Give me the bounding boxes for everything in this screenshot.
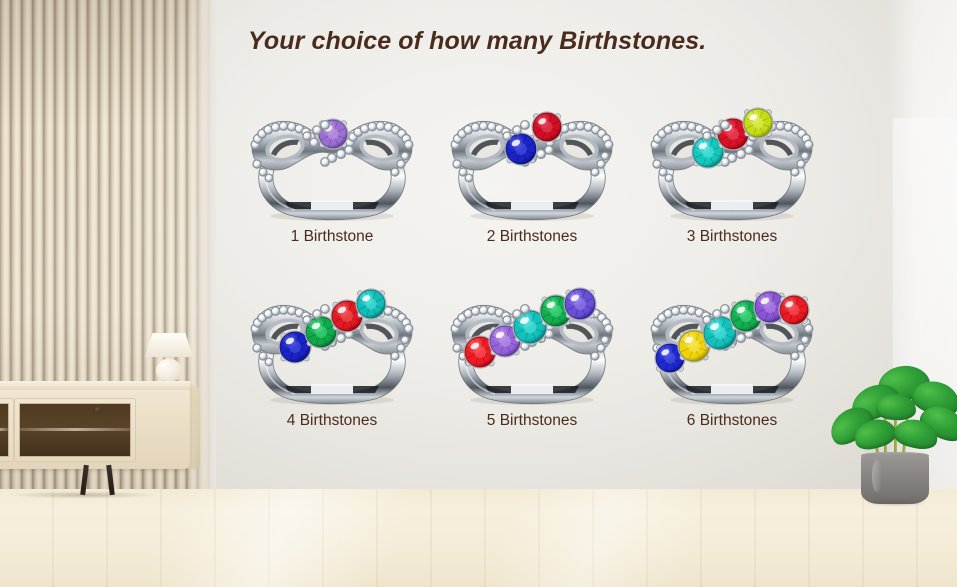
sideboard-door-right xyxy=(14,398,136,462)
ring-option-2[interactable]: 2 Birthstones xyxy=(432,92,632,246)
ring-image-3[interactable] xyxy=(637,92,827,224)
potted-plant xyxy=(820,358,957,508)
ring-options-row-bottom: 4 Birthstones 5 Birthstones 6 Birthstone… xyxy=(232,276,832,430)
ring-option-5[interactable]: 5 Birthstones xyxy=(432,276,632,430)
floor-light-reflection xyxy=(0,489,957,587)
ring-image-1[interactable] xyxy=(237,92,427,224)
ring-caption-1: 1 Birthstone xyxy=(291,228,374,246)
sideboard-shelf-line-right xyxy=(20,428,130,431)
ring-option-6[interactable]: 6 Birthstones xyxy=(632,276,832,430)
sideboard-shelf-line-left xyxy=(0,428,8,431)
ring-image-5[interactable] xyxy=(437,276,627,408)
ring-caption-3: 3 Birthstones xyxy=(687,228,777,246)
plant-floor-shadow xyxy=(854,498,938,508)
ring-option-4[interactable]: 4 Birthstones xyxy=(232,276,432,430)
sideboard-door-left xyxy=(0,398,14,462)
plant-pot-highlight xyxy=(872,460,882,492)
ring-caption-5: 5 Birthstones xyxy=(487,412,577,430)
ring-option-1[interactable]: 1 Birthstone xyxy=(232,92,432,246)
room-scene: Your choice of how many Birthstones. 1 B… xyxy=(0,0,957,587)
ring-option-3[interactable]: 3 Birthstones xyxy=(632,92,832,246)
table-lamp xyxy=(143,333,195,383)
wood-floor xyxy=(0,489,957,587)
ring-caption-6: 6 Birthstones xyxy=(687,412,777,430)
ring-image-2[interactable] xyxy=(437,92,627,224)
ring-caption-2: 2 Birthstones xyxy=(487,228,577,246)
page-title: Your choice of how many Birthstones. xyxy=(248,27,706,56)
ring-options-grid: 1 Birthstone 2 Birthstones 3 Birthstones… xyxy=(232,92,832,430)
ring-caption-4: 4 Birthstones xyxy=(287,412,377,430)
sideboard-credenza xyxy=(0,381,202,497)
lamp-shade xyxy=(145,333,193,357)
ring-options-row-top: 1 Birthstone 2 Birthstones 3 Birthstones xyxy=(232,92,832,246)
sideboard-knob-icon xyxy=(95,407,101,413)
sideboard-glass-right xyxy=(19,403,131,457)
sideboard-floor-shadow xyxy=(0,491,185,499)
ring-image-6[interactable] xyxy=(637,276,827,408)
lamp-base xyxy=(156,359,182,381)
ring-image-4[interactable] xyxy=(237,276,427,408)
sideboard-glass-left xyxy=(0,403,9,457)
